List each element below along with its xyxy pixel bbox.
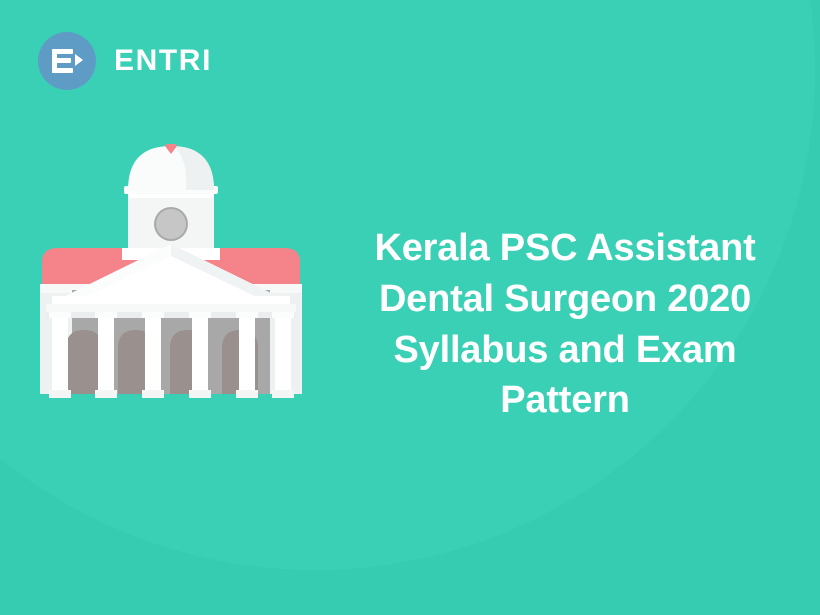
column [95, 312, 117, 398]
column [189, 312, 211, 398]
brand-name-label: ENTRI [114, 46, 212, 76]
entri-logo-icon[interactable] [38, 32, 96, 90]
logo-e-bar-bottom [52, 49, 73, 54]
column [236, 312, 258, 398]
blog-banner: ENTRI [0, 0, 820, 615]
government-building-illustration [36, 144, 306, 400]
logo-play-triangle-icon [75, 54, 83, 66]
page-title: Kerala PSC Assistant Dental Surgeon 2020… [345, 223, 785, 425]
brand-logo[interactable]: ENTRI [38, 32, 212, 90]
column [49, 312, 71, 398]
logo-e-bar-middle [52, 68, 73, 73]
logo-letter-e-icon [52, 49, 73, 73]
clock-tower [122, 144, 220, 260]
column [142, 312, 164, 398]
column [272, 312, 294, 398]
logo-e-bar-top [52, 58, 71, 63]
entablature [46, 304, 296, 318]
